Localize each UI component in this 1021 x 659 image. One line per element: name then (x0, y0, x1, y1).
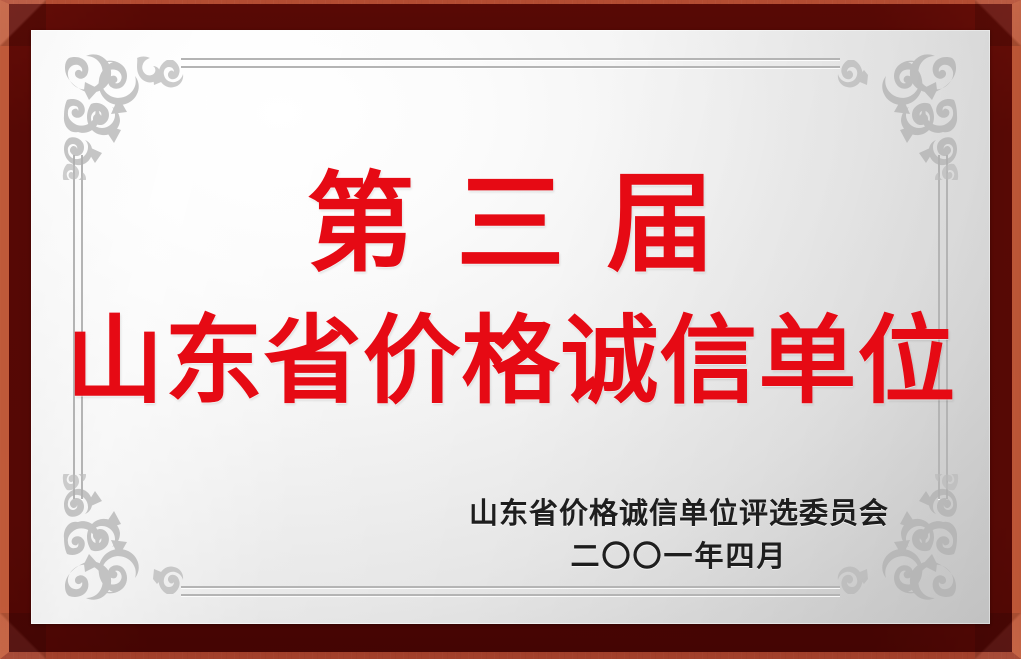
award-issuer: 山东省价格诚信单位评选委员会 (464, 496, 894, 533)
award-edition-title: 第三届 (31, 170, 990, 278)
award-main-title: 山东省价格诚信单位 (31, 313, 990, 409)
award-date: 二〇〇一年四月 (464, 539, 894, 576)
certificate-plate: 第三届 山东省价格诚信单位 山东省价格诚信单位评选委员会 二〇〇一年四月 (31, 30, 990, 624)
award-signature-block: 山东省价格诚信单位评选委员会 二〇〇一年四月 (464, 496, 894, 575)
award-plaque: 第三届 山东省价格诚信单位 山东省价格诚信单位评选委员会 二〇〇一年四月 (0, 0, 1021, 659)
plaque-content: 第三届 山东省价格诚信单位 山东省价格诚信单位评选委员会 二〇〇一年四月 (31, 30, 990, 624)
